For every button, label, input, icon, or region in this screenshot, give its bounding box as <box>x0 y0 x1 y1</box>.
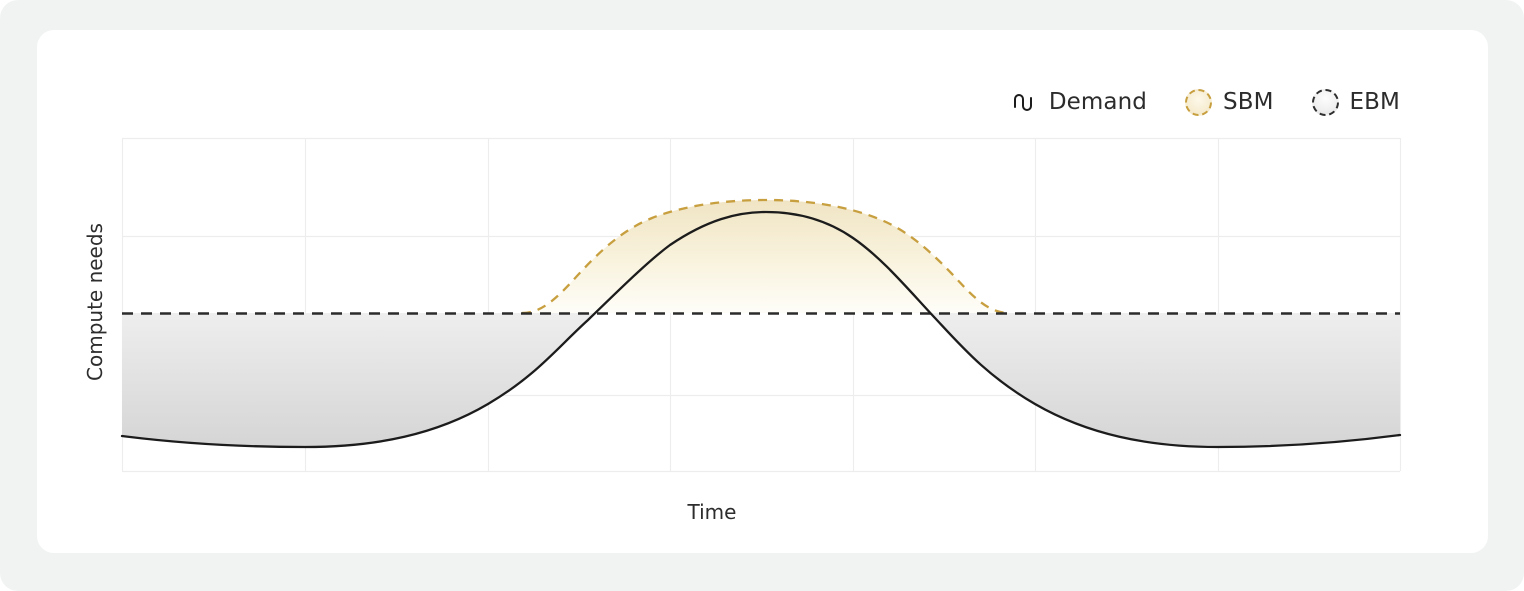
chart-svg <box>37 30 1488 553</box>
y-axis-title: Compute needs <box>83 212 107 392</box>
sbm-area <box>522 200 1009 313</box>
page-root: Demand SBM EBM <box>0 0 1524 591</box>
chart-card: Demand SBM EBM <box>37 30 1488 553</box>
plot-area: Compute needs Time <box>37 30 1488 553</box>
x-axis-title: Time <box>37 500 1387 524</box>
